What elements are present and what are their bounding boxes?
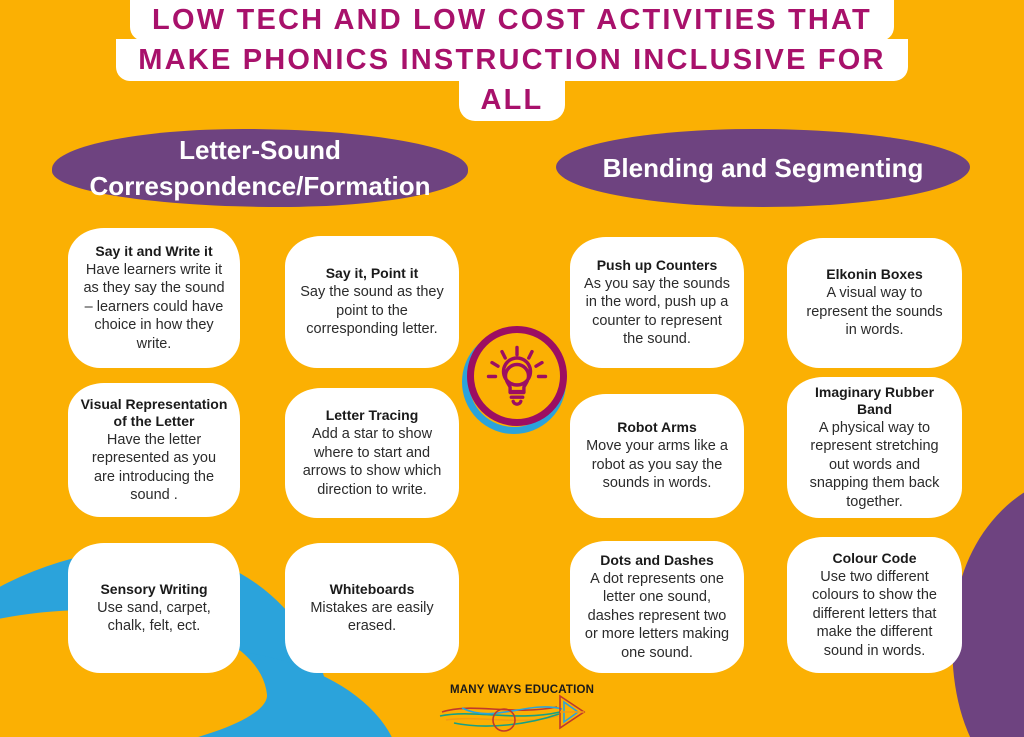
- card-title: Sensory Writing: [100, 581, 207, 598]
- card-body: Mistakes are easily erased.: [297, 599, 447, 636]
- card-title: Robot Arms: [617, 419, 697, 436]
- card-title: Say it and Write it: [95, 243, 212, 260]
- card-title: Push up Counters: [597, 257, 718, 274]
- center-badge: [462, 326, 570, 434]
- card-letter-tracing: Letter Tracing Add a star to show where …: [285, 388, 459, 518]
- section-header-blending-segmenting: Blending and Segmenting: [556, 129, 970, 207]
- card-body: Move your arms like a robot as you say t…: [582, 437, 732, 493]
- card-body: A visual way to represent the sounds in …: [799, 284, 950, 340]
- card-title: Elkonin Boxes: [826, 266, 922, 283]
- lightbulb-icon: [479, 338, 555, 414]
- card-body: Have the letter represented as you are i…: [80, 431, 228, 505]
- card-body: As you say the sounds in the word, push …: [582, 275, 732, 349]
- card-body: Add a star to show where to start and ar…: [297, 425, 447, 499]
- card-say-it-point-it: Say it, Point it Say the sound as they p…: [285, 236, 459, 368]
- card-elkonin-boxes: Elkonin Boxes A visual way to represent …: [787, 238, 962, 368]
- title-line-3: ALL: [459, 79, 566, 121]
- card-body: Use sand, carpet, chalk, felt, ect.: [80, 599, 228, 636]
- brand-logo: MANY WAYS EDUCATION: [432, 682, 597, 734]
- card-body: A dot represents one letter one sound, d…: [582, 570, 732, 663]
- card-body: Use two different colours to show the di…: [799, 568, 950, 661]
- title-line-2: MAKE PHONICS INSTRUCTION INCLUSIVE FOR: [116, 39, 907, 81]
- card-whiteboards: Whiteboards Mistakes are easily erased.: [285, 543, 459, 673]
- card-colour-code: Colour Code Use two different colours to…: [787, 537, 962, 673]
- card-title: Letter Tracing: [326, 407, 419, 424]
- card-body: Have learners write it as they say the s…: [80, 261, 228, 354]
- card-title: Say it, Point it: [326, 265, 419, 282]
- card-sensory-writing: Sensory Writing Use sand, carpet, chalk,…: [68, 543, 240, 673]
- title-line-1: LOW TECH AND LOW COST ACTIVITIES THAT: [130, 0, 894, 41]
- card-push-up-counters: Push up Counters As you say the sounds i…: [570, 237, 744, 368]
- card-title: Colour Code: [833, 550, 917, 567]
- card-dots-and-dashes: Dots and Dashes A dot represents one let…: [570, 541, 744, 673]
- card-title: Dots and Dashes: [600, 552, 714, 569]
- card-imaginary-rubber-band: Imaginary Rubber Band A physical way to …: [787, 377, 962, 518]
- card-body: A physical way to represent stretching o…: [799, 419, 950, 512]
- card-robot-arms: Robot Arms Move your arms like a robot a…: [570, 394, 744, 518]
- card-title: Imaginary Rubber Band: [799, 384, 950, 418]
- page-title: LOW TECH AND LOW COST ACTIVITIES THAT MA…: [0, 0, 1024, 121]
- card-body: Say the sound as they point to the corre…: [297, 283, 447, 339]
- card-title: Whiteboards: [330, 581, 415, 598]
- logo-text: MANY WAYS EDUCATION: [450, 684, 594, 696]
- section-header-letter-sound: Letter-Sound Correspondence/Formation: [52, 129, 468, 207]
- infographic-poster: LOW TECH AND LOW COST ACTIVITIES THAT MA…: [0, 0, 1024, 737]
- card-title: Visual Representation of the Letter: [80, 396, 228, 430]
- card-visual-representation-of-the-letter: Visual Representation of the Letter Have…: [68, 383, 240, 517]
- card-say-it-and-write-it: Say it and Write it Have learners write …: [68, 228, 240, 368]
